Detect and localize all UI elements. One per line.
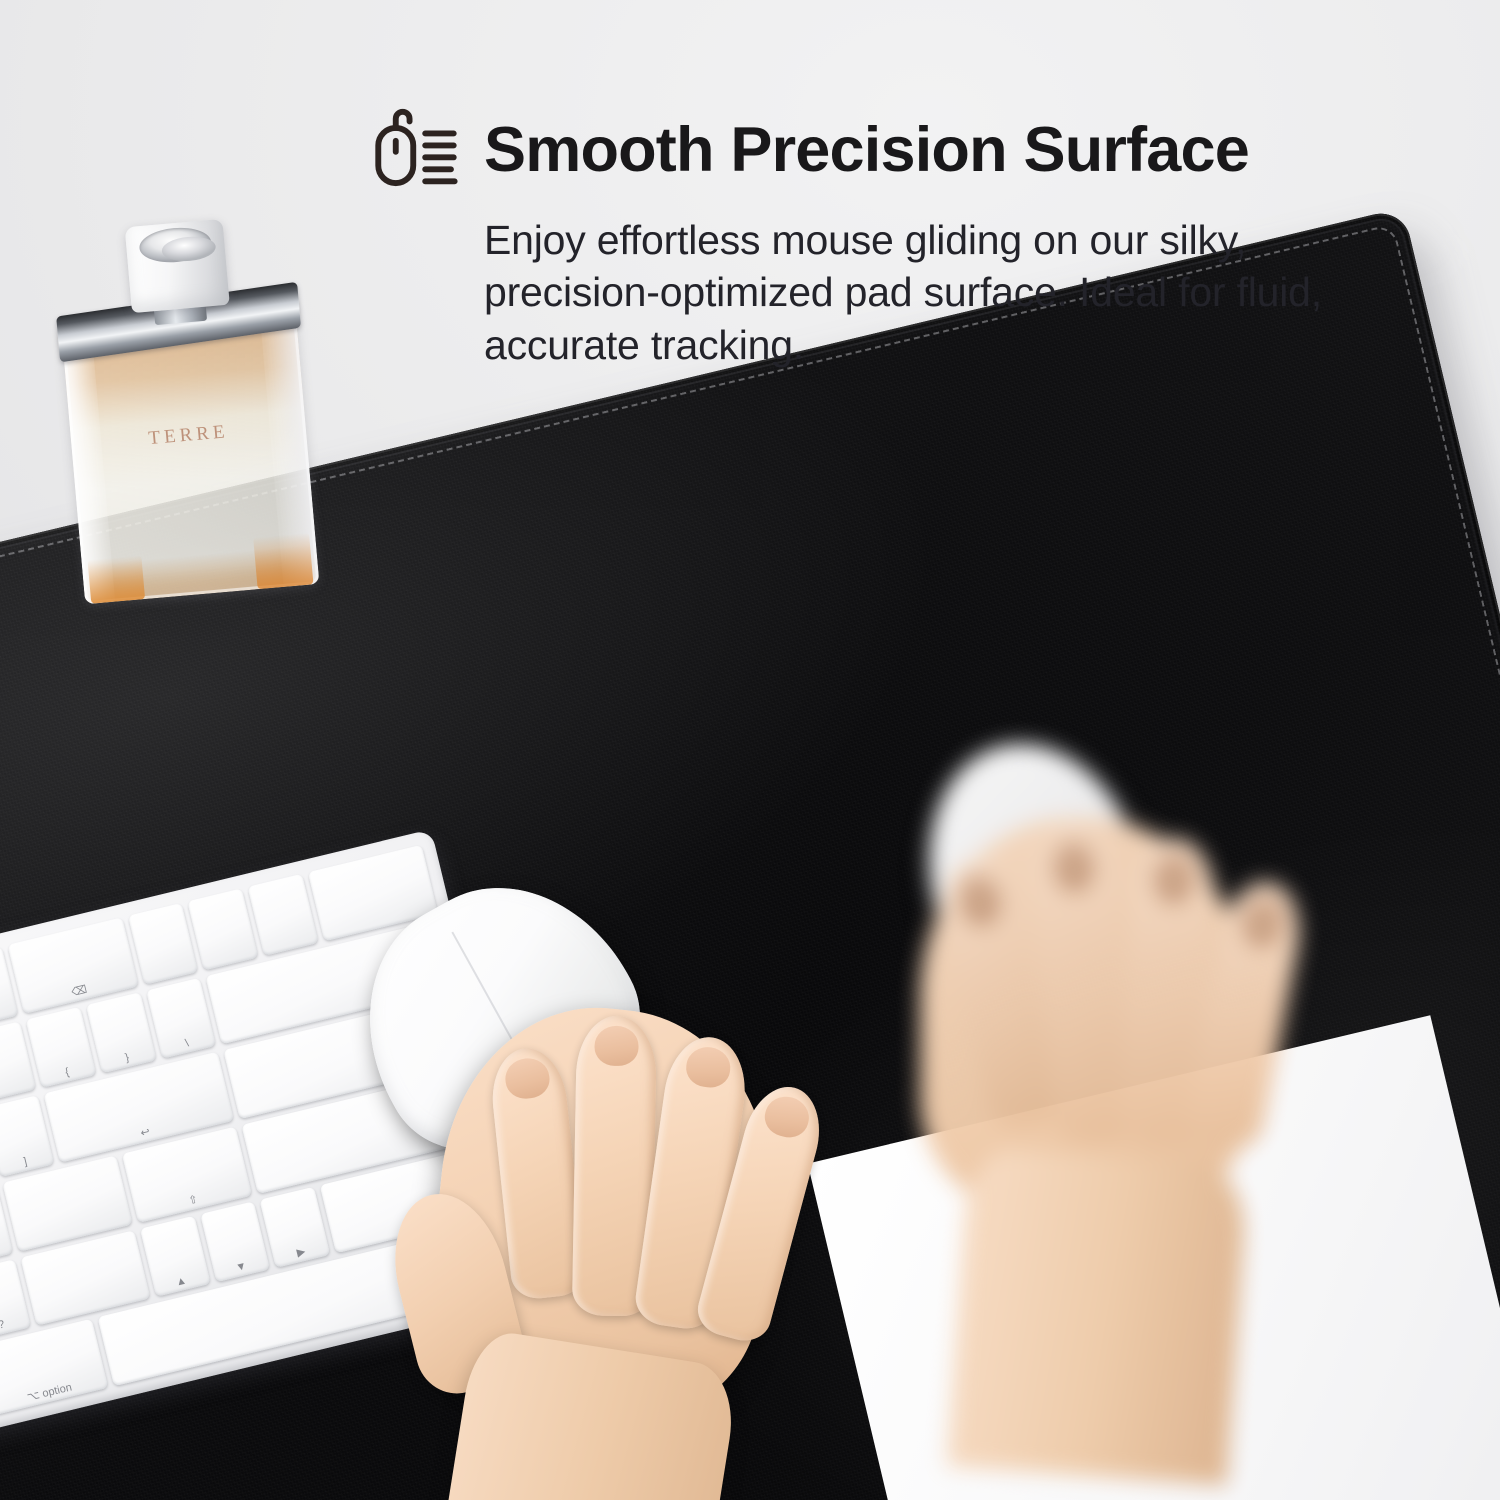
keyboard-key[interactable]: { xyxy=(26,1006,97,1088)
keyboard-key[interactable] xyxy=(128,903,199,985)
keyboard-key[interactable]: ⌥ option xyxy=(0,1319,109,1415)
fingernail-blurred xyxy=(1152,851,1197,905)
fingernail xyxy=(684,1044,733,1090)
product-feature-image: TERRE F10F11F12⌫O-={}\OP[]↩L;'⇧<>?▲▼▶⌘ c… xyxy=(0,0,1500,1500)
fingernail xyxy=(503,1056,551,1100)
hand-on-mouse-motion-blur xyxy=(880,700,1360,1460)
fingernail xyxy=(761,1092,814,1142)
keyboard-key[interactable]: ▼ xyxy=(200,1201,271,1283)
fingernail-blurred xyxy=(1051,839,1097,894)
bottle-cap xyxy=(125,219,230,313)
bottle-amber-reflection-left xyxy=(87,555,145,604)
feature-title-row: Smooth Precision Surface xyxy=(370,104,1445,196)
fingernail-blurred xyxy=(953,870,1006,930)
perfume-bottle: TERRE xyxy=(39,211,351,614)
hand-on-mouse xyxy=(366,857,900,1500)
bottle-cap-top-face xyxy=(138,225,213,265)
fingernail xyxy=(594,1026,639,1067)
mouse-motion-lines-icon xyxy=(370,104,462,196)
fingernail-blurred xyxy=(1237,892,1288,951)
bottle-amber-reflection-right xyxy=(253,533,313,590)
keyboard-key[interactable]: ▲ xyxy=(140,1215,211,1297)
forearm-blurred xyxy=(947,1147,1249,1486)
keyboard-key[interactable]: ▶ xyxy=(260,1186,331,1268)
bottle-cap-medallion xyxy=(161,235,217,264)
keyboard-key[interactable] xyxy=(188,888,259,970)
keyboard-key[interactable] xyxy=(247,874,318,956)
page-title: Smooth Precision Surface xyxy=(484,119,1249,182)
keyboard-key[interactable]: \ xyxy=(146,977,217,1059)
feature-description: Enjoy effortless mouse gliding on our si… xyxy=(484,214,1384,371)
keyboard-key[interactable]: } xyxy=(86,992,157,1074)
feature-header: Smooth Precision Surface Enjoy effortles… xyxy=(370,104,1445,371)
